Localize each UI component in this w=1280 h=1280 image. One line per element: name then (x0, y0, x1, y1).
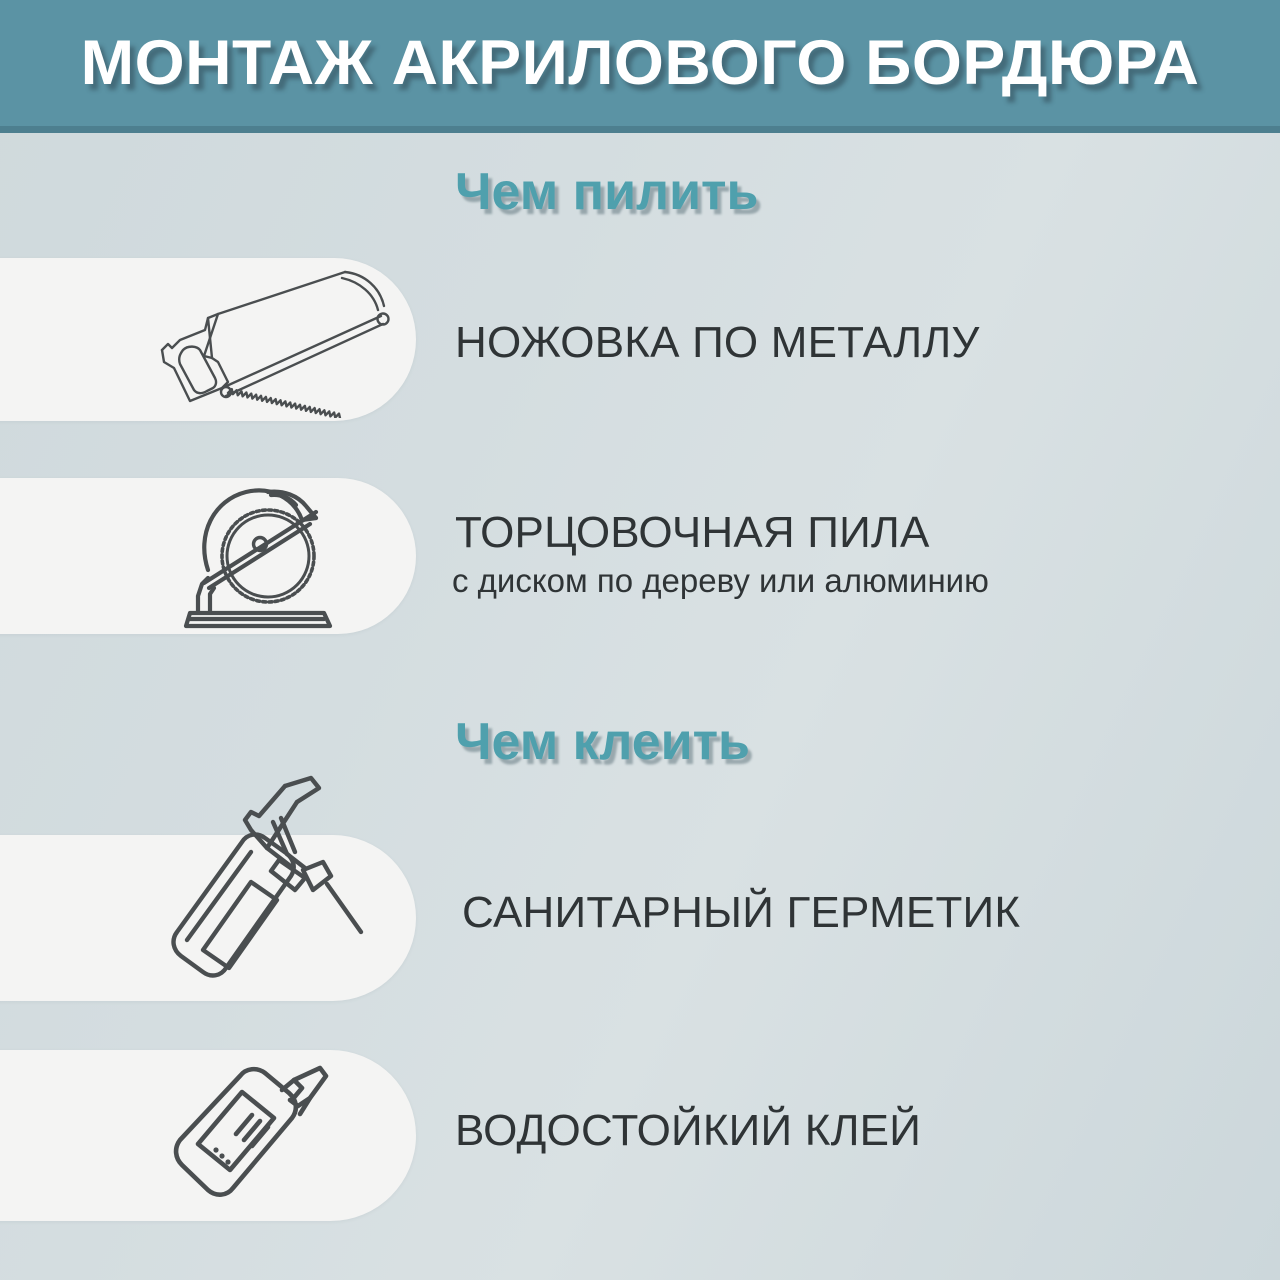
item-panel-miter-saw (0, 478, 416, 634)
section-heading-cutting: Чем пилить (455, 162, 759, 222)
infographic-poster: МОНТАЖ АКРИЛОВОГО БОРДЮРА НОЖОВКА ПО МЕТ… (0, 0, 1280, 1280)
item-sublabel-miter-saw: с диском по дереву или алюминию (452, 562, 989, 600)
item-label-hacksaw: НОЖОВКА ПО МЕТАЛЛУ (455, 318, 980, 368)
item-label-sealant: САНИТАРНЫЙ ГЕРМЕТИК (462, 888, 1020, 938)
item-panel-caulk-gun (0, 835, 416, 1001)
page-title: МОНТАЖ АКРИЛОВОГО БОРДЮРА (0, 0, 1280, 126)
section-heading-gluing: Чем клеить (455, 712, 750, 772)
item-panel-hacksaw (0, 258, 416, 421)
item-label-miter-saw: ТОРЦОВОЧНАЯ ПИЛА (455, 508, 930, 558)
header-underline (0, 126, 1280, 133)
item-panel-glue (0, 1050, 416, 1221)
item-label-waterproof-glue: ВОДОСТОЙКИЙ КЛЕЙ (455, 1106, 921, 1156)
